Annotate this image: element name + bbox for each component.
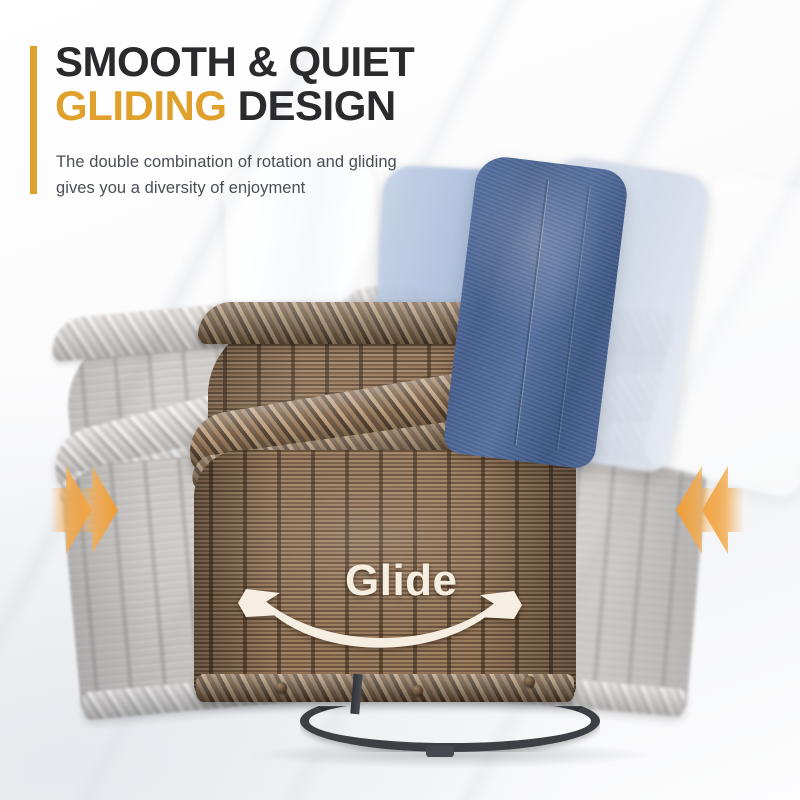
motion-arrows-left xyxy=(48,462,118,558)
glide-annotation: Glide xyxy=(0,0,800,800)
double-chevron-right-icon xyxy=(48,462,118,558)
glide-label: Glide xyxy=(345,556,458,606)
double-headed-curved-arrow-icon xyxy=(0,0,800,800)
double-chevron-left-icon xyxy=(676,462,746,558)
motion-arrows-right xyxy=(676,462,746,558)
marketing-banner: Glide xyxy=(0,0,800,800)
